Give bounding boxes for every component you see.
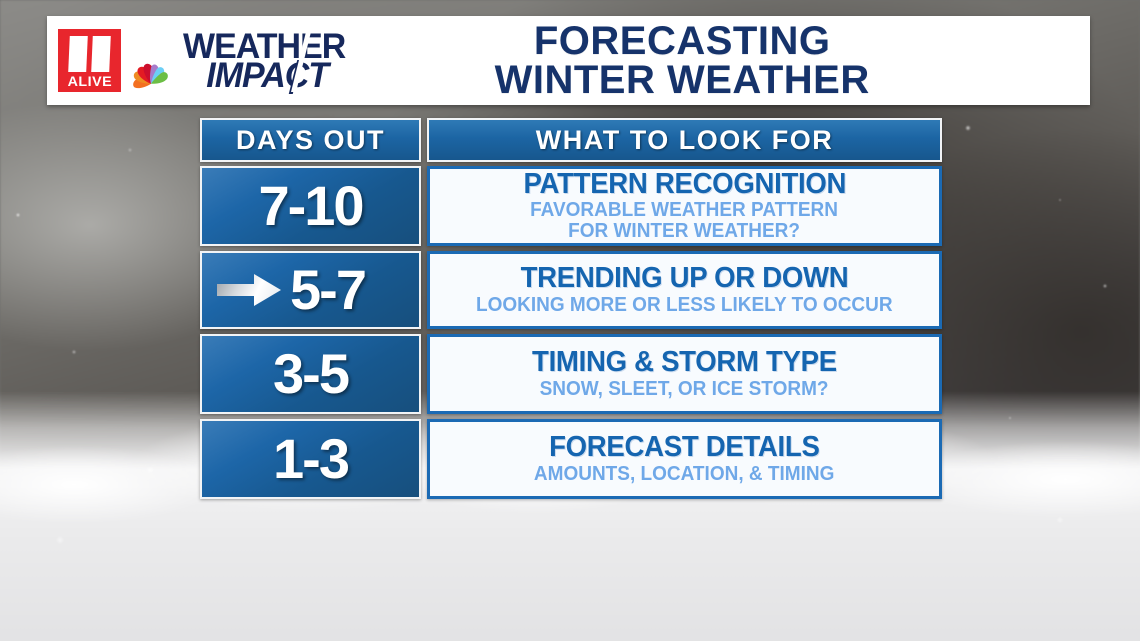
table-row[interactable]: 7-10 PATTERN RECOGNITION FAVORABLE WEATH…	[200, 166, 942, 246]
page-title: FORECASTING WINTER WEATHER	[350, 22, 1090, 100]
header-cell-what-to-look-for: WHAT TO LOOK FOR	[427, 118, 942, 162]
header-label-what-to-look-for: WHAT TO LOOK FOR	[536, 125, 833, 156]
table-row[interactable]: 1-3 FORECAST DETAILS AMOUNTS, LOCATION, …	[200, 419, 942, 499]
nbc-peacock-icon	[129, 45, 173, 89]
weather-impact-wordmark: WEATHER IMPACT	[181, 30, 350, 90]
detail-cell: PATTERN RECOGNITION FAVORABLE WEATHER PA…	[427, 166, 942, 246]
header-banner: ALIVE WEATHER IMPACT	[47, 16, 1090, 105]
days-cell: 5-7	[200, 251, 421, 329]
alive-wordmark: ALIVE	[67, 72, 112, 91]
table-header-row: DAYS OUT WHAT TO LOOK FOR	[200, 118, 942, 162]
detail-headline: FORECAST DETAILS	[549, 433, 819, 463]
days-cell: 3-5	[200, 334, 421, 414]
eleven-alive-logo: ALIVE	[58, 29, 121, 92]
detail-cell: FORECAST DETAILS AMOUNTS, LOCATION, & TI…	[427, 419, 942, 499]
detail-headline: TIMING & STORM TYPE	[532, 348, 837, 378]
days-value: 7-10	[258, 178, 362, 234]
detail-subtext-line-1: SNOW, SLEET, OR ICE STORM?	[540, 379, 829, 400]
table-row[interactable]: 3-5 TIMING & STORM TYPE SNOW, SLEET, OR …	[200, 334, 942, 414]
title-line-1: FORECASTING	[360, 22, 1004, 61]
detail-subtext: SNOW, SLEET, OR ICE STORM?	[540, 379, 829, 400]
detail-subtext-line-2: FOR WINTER WEATHER?	[531, 221, 839, 242]
arrow-right-icon	[216, 273, 282, 307]
header-label-days-out: DAYS OUT	[236, 125, 385, 156]
detail-subtext: FAVORABLE WEATHER PATTERN FOR WINTER WEA…	[531, 200, 839, 242]
days-value: 1-3	[273, 431, 348, 487]
days-value: 3-5	[273, 346, 348, 402]
title-line-2: WINTER WEATHER	[360, 61, 1004, 100]
weather-graphic-stage: ALIVE WEATHER IMPACT	[0, 0, 1140, 641]
detail-subtext: LOOKING MORE OR LESS LIKELY TO OCCUR	[476, 295, 893, 316]
eleven-bars-icon	[65, 36, 114, 72]
detail-cell: TRENDING UP OR DOWN LOOKING MORE OR LESS…	[427, 251, 942, 329]
wordmark-impact: IMPACT	[183, 61, 345, 91]
detail-subtext-line-1: FAVORABLE WEATHER PATTERN	[531, 200, 839, 221]
detail-headline: TRENDING UP OR DOWN	[521, 264, 849, 294]
detail-subtext-line-1: LOOKING MORE OR LESS LIKELY TO OCCUR	[476, 295, 893, 316]
detail-cell: TIMING & STORM TYPE SNOW, SLEET, OR ICE …	[427, 334, 942, 414]
header-cell-days-out: DAYS OUT	[200, 118, 421, 162]
days-cell: 1-3	[200, 419, 421, 499]
detail-subtext-line-1: AMOUNTS, LOCATION, & TIMING	[534, 464, 834, 485]
brand-block: ALIVE WEATHER IMPACT	[47, 29, 350, 92]
detail-subtext: AMOUNTS, LOCATION, & TIMING	[534, 464, 834, 485]
days-value: 5-7	[290, 262, 365, 318]
detail-headline: PATTERN RECOGNITION	[523, 170, 846, 200]
forecast-timeline-table: DAYS OUT WHAT TO LOOK FOR 7-10 PATTERN R…	[200, 118, 942, 496]
table-row[interactable]: 5-7 TRENDING UP OR DOWN LOOKING MORE OR …	[200, 251, 942, 329]
days-cell: 7-10	[200, 166, 421, 246]
